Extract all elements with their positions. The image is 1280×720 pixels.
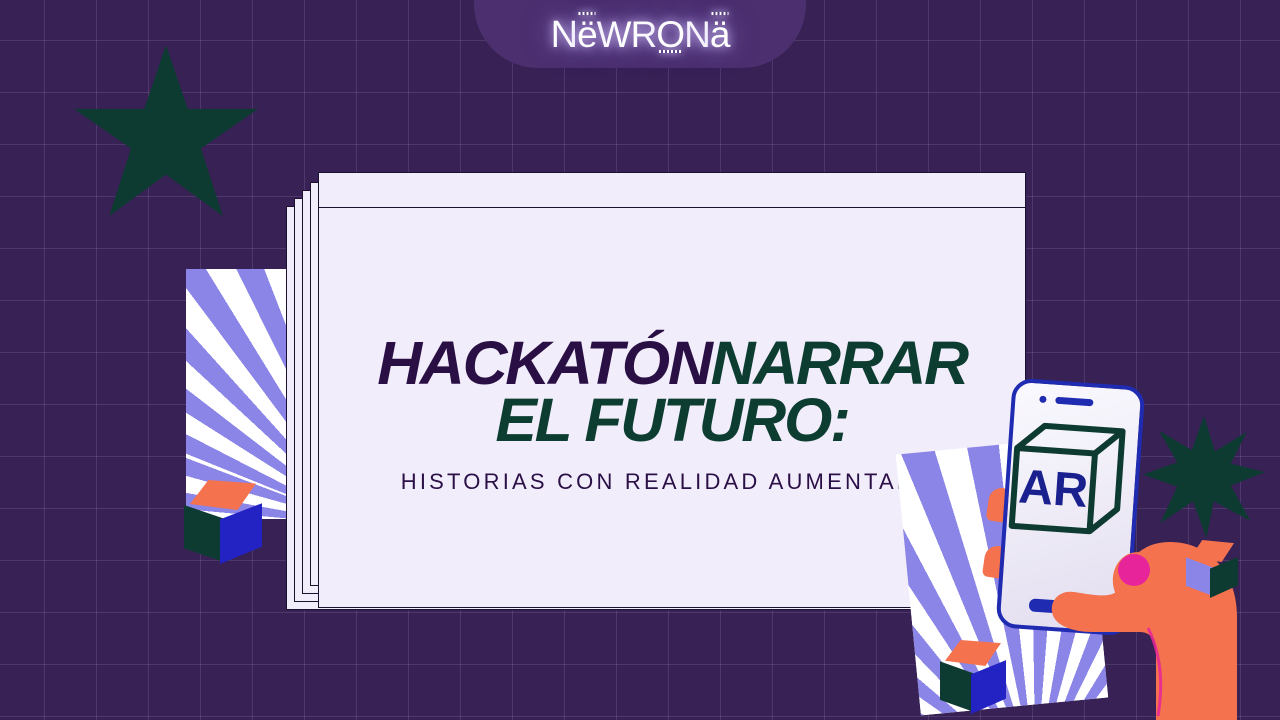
cube-face-top (1190, 540, 1234, 562)
logo-letter-n1: N (551, 14, 577, 57)
card-title-bar (319, 173, 1025, 208)
phone-camera-icon (1039, 396, 1046, 403)
phone-speaker-icon (1055, 397, 1093, 407)
logo-letter-e-diaeresis: ë (577, 14, 597, 56)
logo-letters-wr: WR (597, 14, 657, 56)
logo-letter-n2: N (684, 14, 710, 56)
cube-face-top (190, 480, 256, 510)
cube-decoration-bottom (940, 640, 1006, 712)
cube-face-left (184, 500, 224, 562)
logo-letter-o-dotted: O (656, 14, 684, 56)
slide-canvas: NëWRONä HACKATÓNNARRAR EL FUTURO: HISTOR… (0, 0, 1280, 720)
cube-face-right (220, 502, 262, 564)
cube-face-top (945, 640, 1001, 666)
brand-logo-text: NëWRONä (551, 14, 730, 57)
brand-logo: NëWRONä (0, 8, 1280, 62)
cube-decoration-left (184, 480, 262, 562)
cube-face-right (971, 659, 1006, 714)
logo-letter-a-diaeresis: ä (710, 14, 730, 56)
cube-face-left (940, 657, 974, 712)
cube-face-right (1210, 556, 1238, 598)
cube-decoration-right (1186, 540, 1238, 596)
ar-cube-label: AR (1017, 460, 1090, 518)
